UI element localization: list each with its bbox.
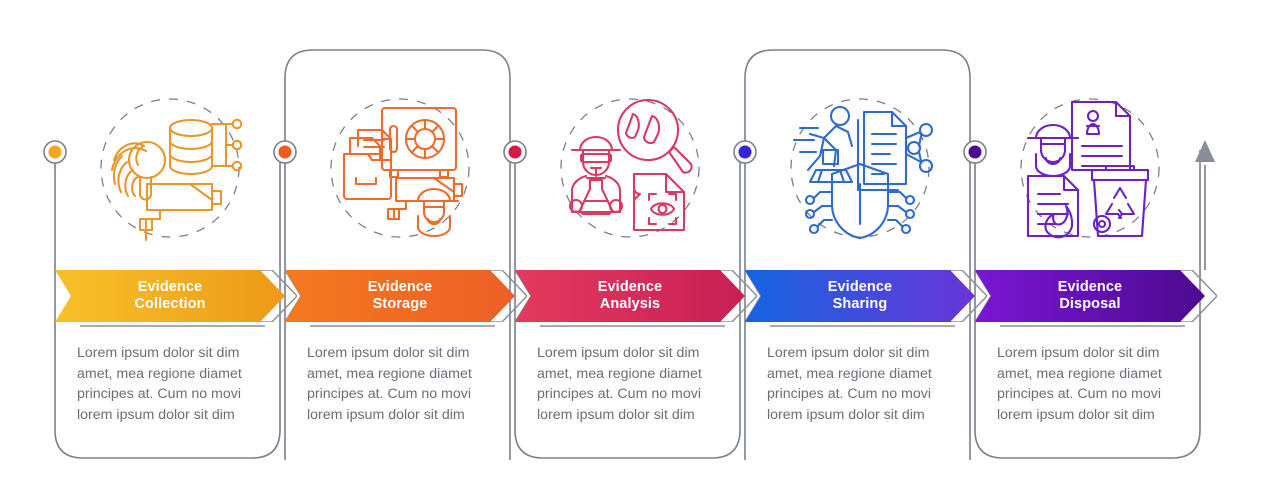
cctv-camera-icon	[140, 184, 221, 240]
step-evidence-disposal[interactable]: Evidence Disposal Lorem ipsum dolor sit …	[975, 0, 1205, 500]
step-3-title: Evidence Analysis	[515, 270, 745, 322]
documents-share-icon	[858, 112, 932, 190]
evidence-process-infographic: Evidence Collection Lorem ipsum dolor si…	[0, 0, 1262, 500]
step-evidence-storage[interactable]: Evidence Storage Lorem ipsum dolor sit d…	[285, 0, 515, 500]
safe-vault-icon	[382, 108, 456, 177]
document-detective-icon	[1028, 102, 1130, 176]
detective-icon	[410, 189, 458, 236]
burning-document-icon	[1028, 176, 1078, 237]
evidence-sharing-icon-group	[780, 88, 940, 248]
forensic-scientist-icon	[570, 137, 622, 214]
step-evidence-analysis[interactable]: Evidence Analysis Lorem ipsum dolor sit …	[515, 0, 745, 500]
step-5-banner[interactable]: Evidence Disposal	[975, 270, 1205, 322]
step-3-description: Lorem ipsum dolor sit dim amet, mea regi…	[537, 343, 725, 425]
steps-container: Evidence Collection Lorem ipsum dolor si…	[0, 0, 1262, 500]
step-2-title: Evidence Storage	[285, 270, 515, 322]
evidence-collection-icon-group	[90, 88, 250, 248]
magnifier-footprints-icon	[618, 100, 692, 173]
step-1-description: Lorem ipsum dolor sit dim amet, mea regi…	[77, 343, 265, 425]
step-3-banner[interactable]: Evidence Analysis	[515, 270, 745, 322]
shield-circuit-icon	[806, 164, 914, 238]
step-5-description: Lorem ipsum dolor sit dim amet, mea regi…	[997, 343, 1185, 425]
recycle-bin-icon	[1092, 166, 1148, 236]
file-folder-icon	[344, 130, 391, 199]
step-evidence-collection[interactable]: Evidence Collection Lorem ipsum dolor si…	[55, 0, 285, 500]
step-4-banner[interactable]: Evidence Sharing	[745, 270, 975, 322]
evidence-analysis-icon-group	[550, 88, 710, 248]
step-1-banner[interactable]: Evidence Collection	[55, 270, 285, 322]
step-4-description: Lorem ipsum dolor sit dim amet, mea regi…	[767, 343, 955, 425]
evidence-storage-icon-group	[320, 88, 480, 248]
step-1-title: Evidence Collection	[55, 270, 285, 322]
database-icon	[170, 120, 212, 174]
step-evidence-sharing[interactable]: Evidence Sharing Lorem ipsum dolor sit d…	[745, 0, 975, 500]
evidence-disposal-icon-group	[1010, 88, 1170, 248]
step-5-title: Evidence Disposal	[975, 270, 1205, 322]
document-eye-scan-icon	[634, 174, 684, 230]
step-4-title: Evidence Sharing	[745, 270, 975, 322]
network-nodes-icon	[212, 120, 241, 170]
step-2-banner[interactable]: Evidence Storage	[285, 270, 515, 322]
step-2-description: Lorem ipsum dolor sit dim amet, mea regi…	[307, 343, 495, 425]
